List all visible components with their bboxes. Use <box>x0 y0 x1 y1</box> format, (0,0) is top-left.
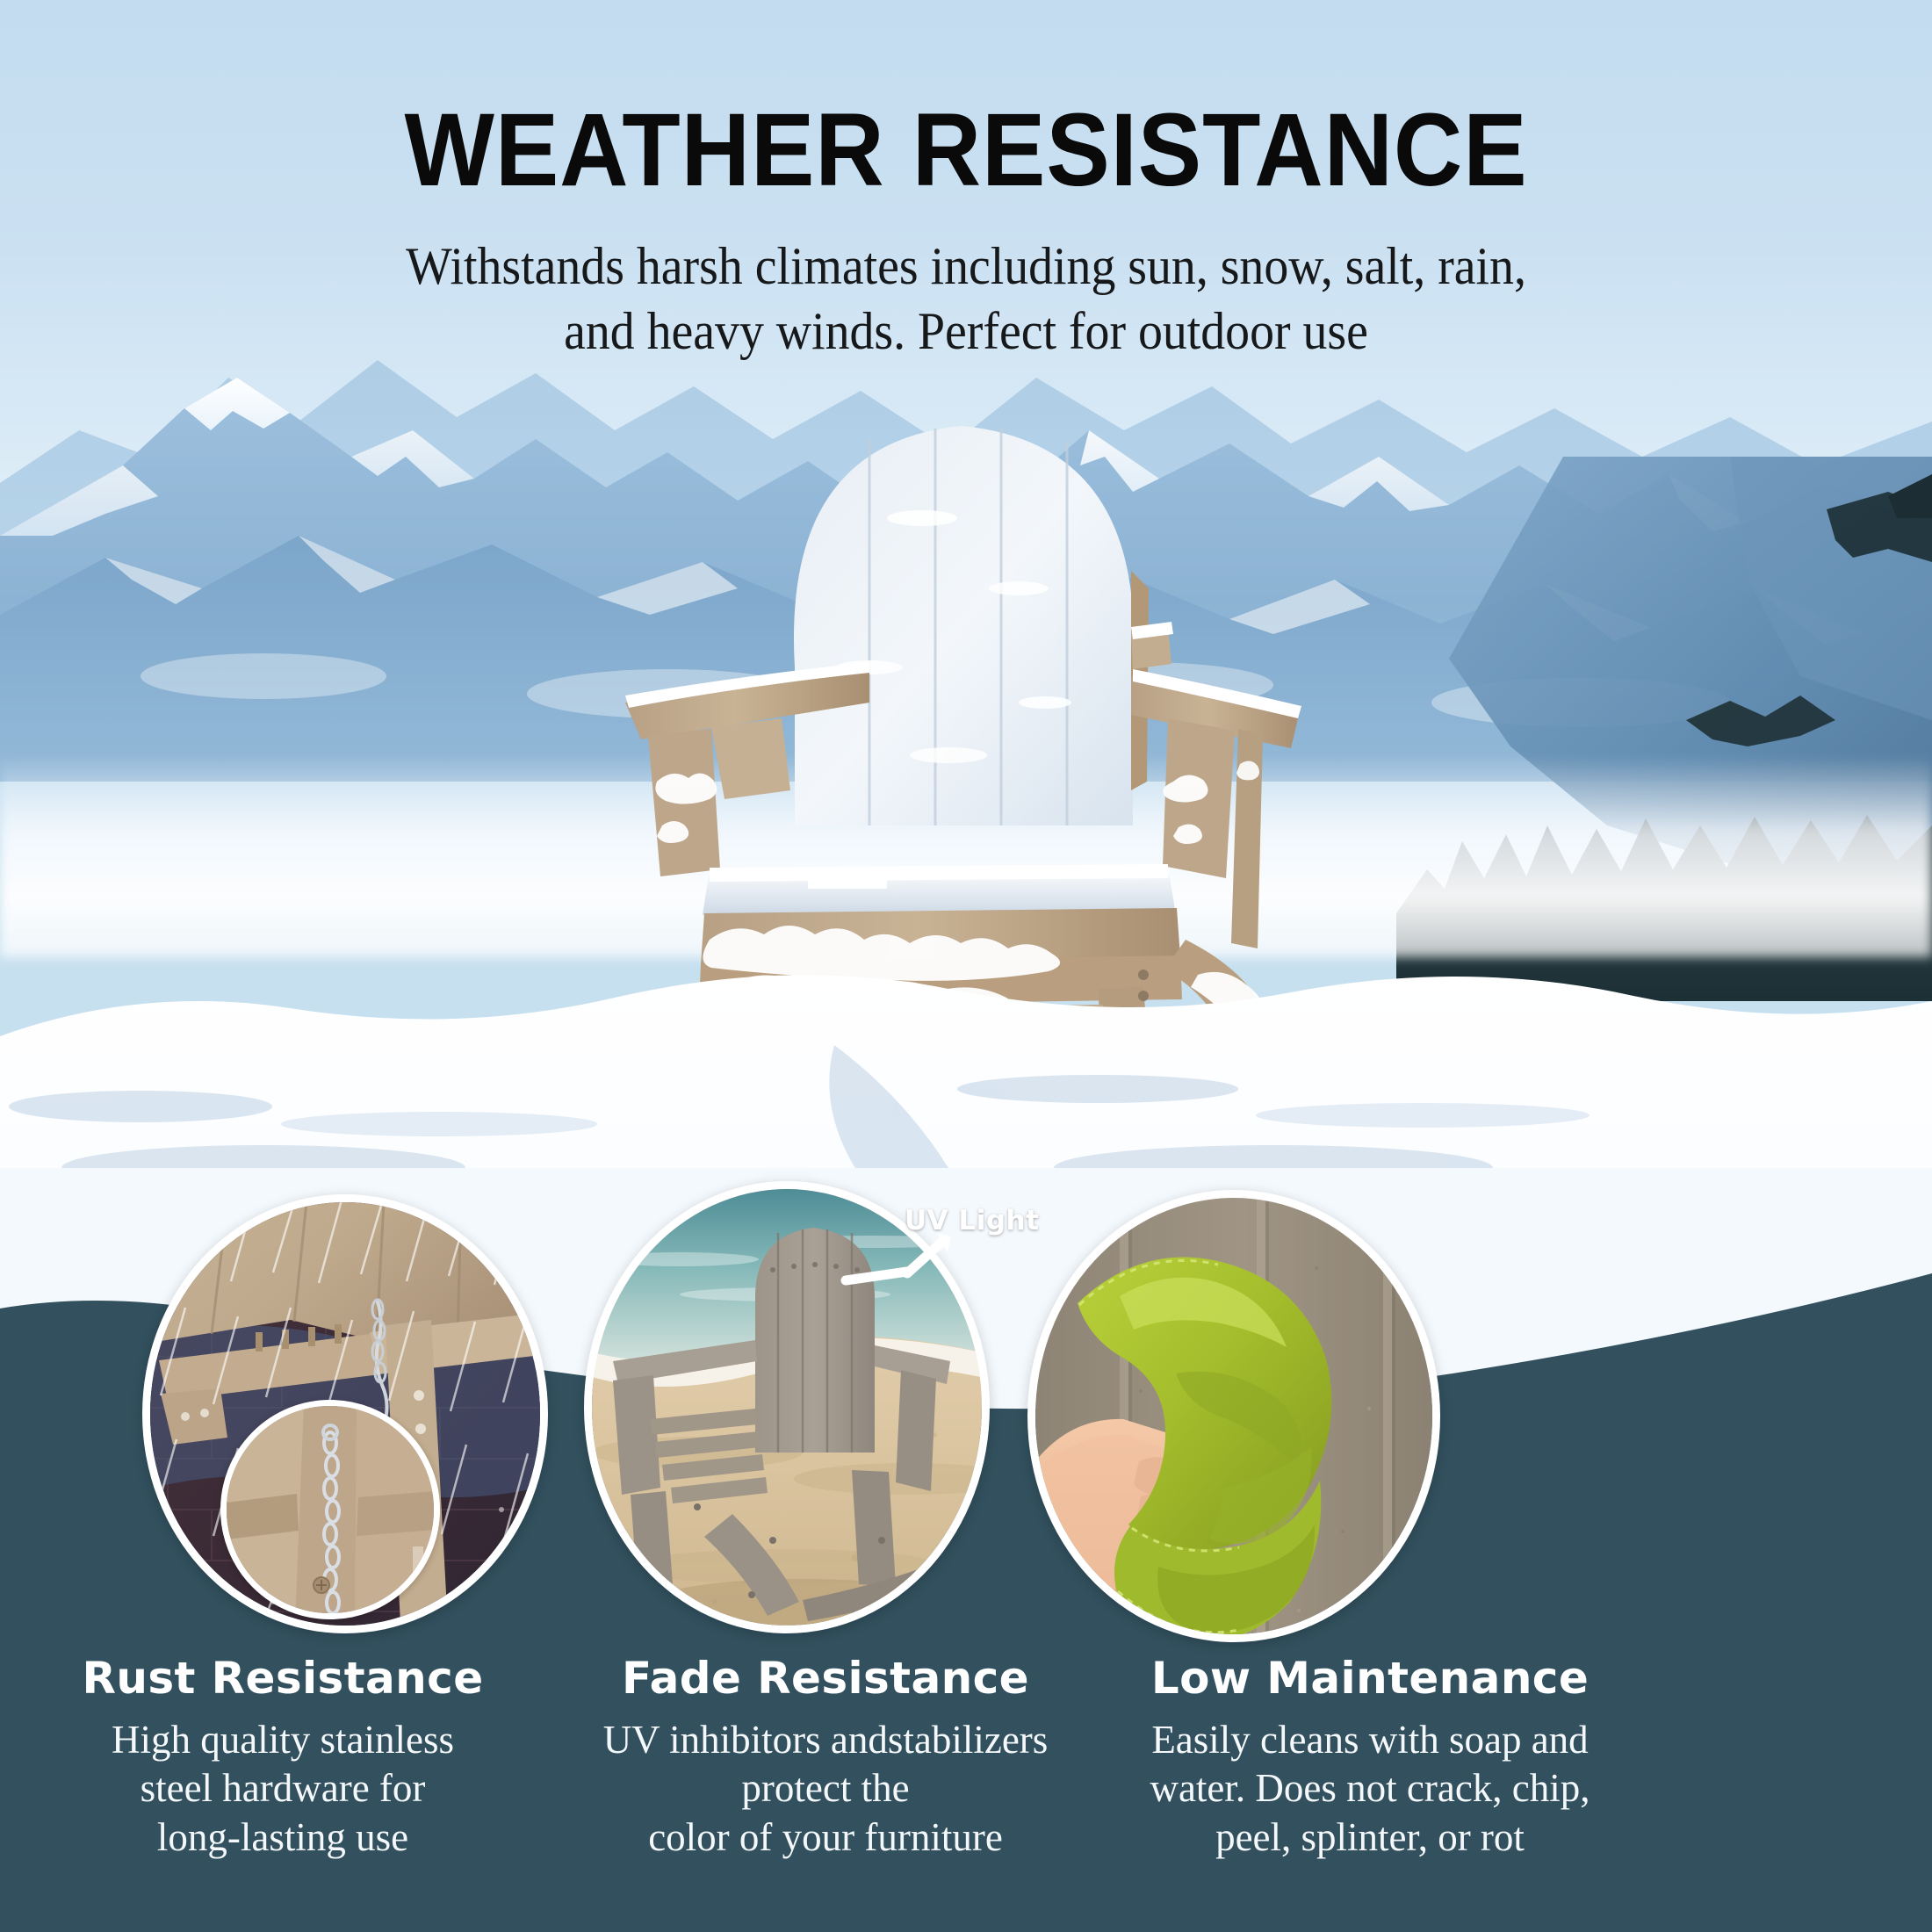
desc-line: color of your furniture <box>562 1813 1089 1863</box>
low-maintenance-image-inner <box>1035 1198 1432 1634</box>
desc-line: protect the <box>562 1764 1089 1813</box>
rust-hardware-detail-inset <box>220 1400 440 1619</box>
feature-image-rust-resistance[interactable] <box>142 1194 548 1633</box>
feature-circles: UV Light <box>0 0 1932 1932</box>
desc-line: UV inhibitors andstabilizers <box>562 1716 1089 1765</box>
desc-line: water. Does not crack, chip, <box>1089 1764 1651 1813</box>
feature-card-low-maintenance: Low Maintenance Easily cleans with soap … <box>1089 1655 1651 1863</box>
feature-desc-fade-resistance: UV inhibitors andstabilizers protect the… <box>562 1716 1089 1863</box>
feature-desc-low-maintenance: Easily cleans with soap and water. Does … <box>1089 1716 1651 1863</box>
feature-desc-rust-resistance: High quality stainless steel hardware fo… <box>37 1716 529 1863</box>
feature-title-low-maintenance: Low Maintenance <box>1089 1655 1651 1702</box>
feature-title-rust-resistance: Rust Resistance <box>37 1655 529 1702</box>
infographic-stage: WEATHER RESISTANCE Withstands harsh clim… <box>0 0 1932 1932</box>
desc-line: steel hardware for <box>37 1764 529 1813</box>
feature-card-rust-resistance: Rust Resistance High quality stainless s… <box>37 1655 529 1863</box>
desc-line: peel, splinter, or rot <box>1089 1813 1651 1863</box>
uv-light-arrow-icon <box>839 1229 988 1317</box>
feature-image-low-maintenance[interactable] <box>1027 1190 1440 1642</box>
feature-title-fade-resistance: Fade Resistance <box>562 1655 1089 1702</box>
desc-line: High quality stainless <box>37 1716 529 1765</box>
feature-card-fade-resistance: Fade Resistance UV inhibitors andstabili… <box>562 1655 1089 1863</box>
desc-line: Easily cleans with soap and <box>1089 1716 1651 1765</box>
uv-light-label: UV Light <box>905 1205 1039 1236</box>
desc-line: long-lasting use <box>37 1813 529 1863</box>
